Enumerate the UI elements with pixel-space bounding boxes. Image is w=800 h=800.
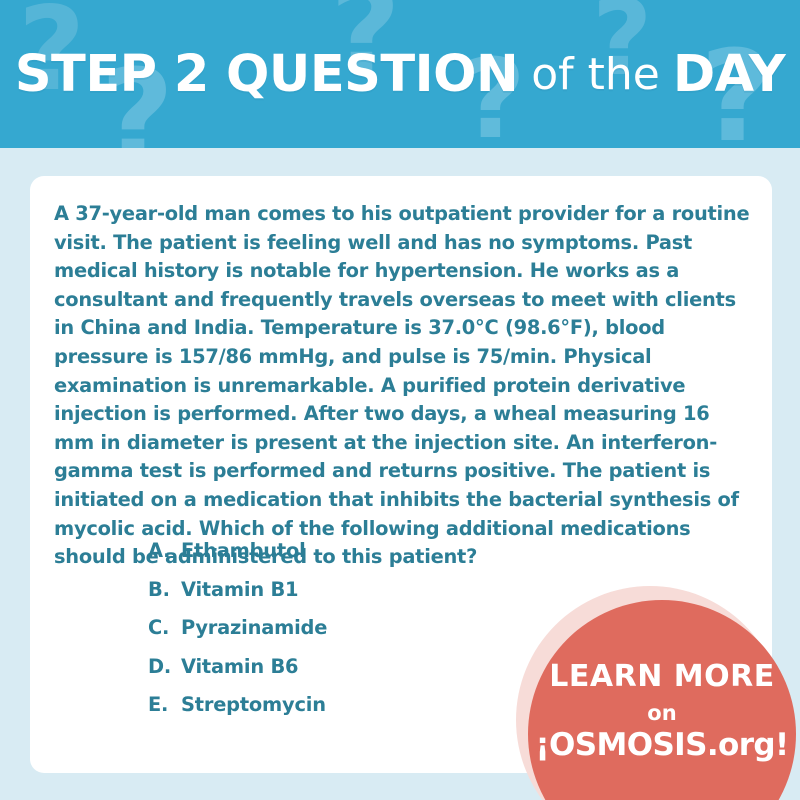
badge-connector: on <box>647 703 676 724</box>
badge-headline: LEARN MORE <box>549 662 774 692</box>
answer-letter: D. <box>148 655 181 678</box>
page-title-part-day: DAY <box>673 45 785 104</box>
question-stem: A 37-year-old man comes to his outpatien… <box>54 200 754 572</box>
badge-content: LEARN MORE on ¡OSMOSIS.org! <box>528 600 796 800</box>
answer-letter: B. <box>148 578 181 601</box>
page-title: STEP 2 QUESTION of the DAY <box>0 0 800 148</box>
answer-letter: A. <box>148 539 181 562</box>
osmosis-logo-text: ¡OSMOSIS.org! <box>535 730 788 761</box>
learn-more-badge[interactable]: LEARN MORE on ¡OSMOSIS.org! <box>516 586 800 800</box>
list-item[interactable]: A. Ethambutol <box>148 539 608 578</box>
page-title-part-of-the: of the <box>531 49 660 100</box>
osmosis-logo-icon: ¡OSMOSIS.org! <box>535 730 788 761</box>
page-title-part-step: STEP 2 QUESTION <box>15 45 518 104</box>
answer-letter: C. <box>148 616 181 639</box>
header-banner: ? ? ? ? ? ? STEP 2 QUESTION of the DAY <box>0 0 800 148</box>
answer-label: Ethambutol <box>181 539 608 562</box>
question-of-the-day-card: ? ? ? ? ? ? STEP 2 QUESTION of the DAY A… <box>0 0 800 800</box>
answer-letter: E. <box>148 693 181 716</box>
